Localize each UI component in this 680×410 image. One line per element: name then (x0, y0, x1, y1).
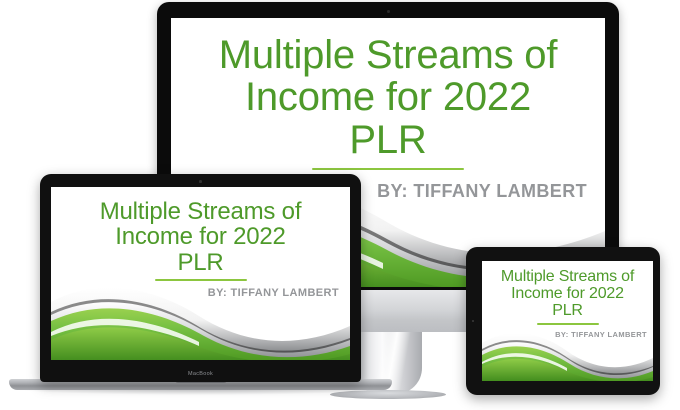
slide-title-line1: Multiple Streams of (51, 199, 350, 224)
product-mockup-image: Multiple Streams of Income for 2022 PLR … (0, 0, 680, 410)
slide-title-line3: PLR (171, 119, 605, 161)
slide-title-line1: Multiple Streams of (482, 269, 653, 286)
tablet-bezel: Multiple Streams of Income for 2022 PLR … (466, 247, 660, 395)
slide-title-line2: Income for 2022 (482, 286, 653, 303)
device-macbook: Multiple Streams of Income for 2022 PLR … (40, 174, 361, 396)
slide-macbook: Multiple Streams of Income for 2022 PLR … (51, 187, 350, 360)
slide-divider (537, 323, 599, 325)
slide-divider (155, 279, 247, 281)
slide-wave-graphic (482, 329, 653, 381)
slide-title-line3: PLR (482, 303, 653, 320)
macbook-brand-label: MacBook (40, 371, 361, 377)
slide-wave-graphic (51, 282, 350, 360)
macbook-lid: Multiple Streams of Income for 2022 PLR … (40, 174, 361, 382)
slide-title-line3: PLR (51, 250, 350, 275)
tablet-screen: Multiple Streams of Income for 2022 PLR … (482, 261, 653, 381)
macbook-camera-icon (199, 180, 202, 183)
macbook-screen: Multiple Streams of Income for 2022 PLR … (51, 187, 350, 360)
slide-title-line2: Income for 2022 (51, 224, 350, 249)
slide-tablet: Multiple Streams of Income for 2022 PLR … (482, 261, 653, 381)
device-tablet: Multiple Streams of Income for 2022 PLR … (466, 247, 660, 395)
slide-title-line2: Income for 2022 (171, 76, 605, 118)
macbook-base-shadow (9, 388, 392, 395)
tablet-camera-icon (472, 320, 474, 322)
imac-camera-icon (387, 10, 390, 13)
slide-title-line1: Multiple Streams of (171, 34, 605, 76)
